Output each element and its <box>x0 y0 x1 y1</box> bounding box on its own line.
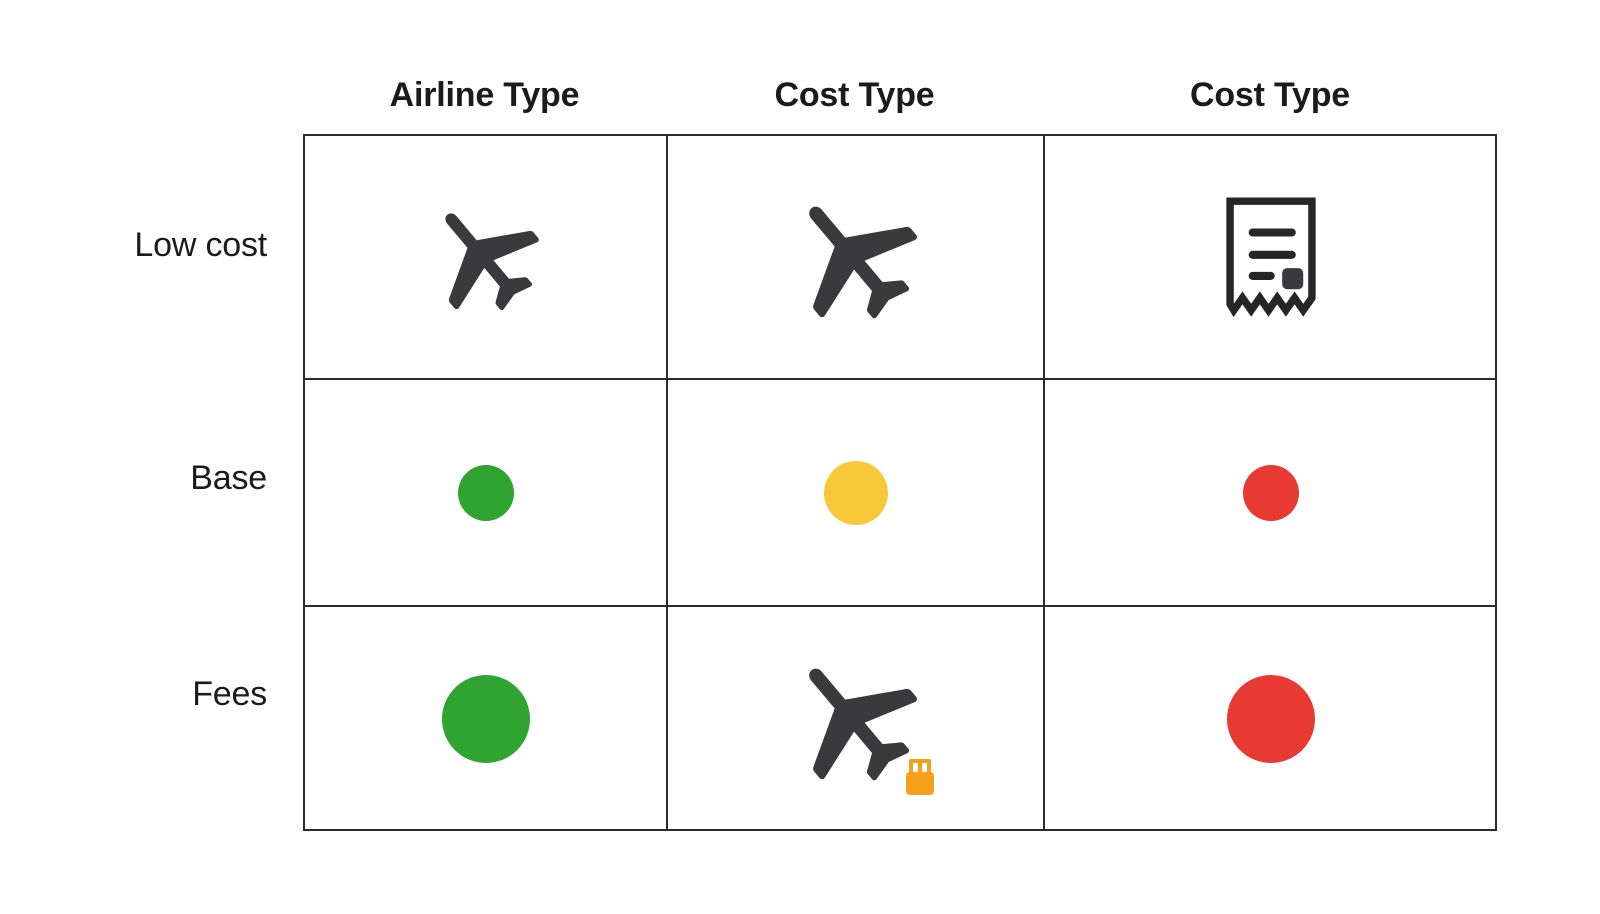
row-label-fees: Fees <box>40 675 267 714</box>
airplane-icon <box>421 192 551 322</box>
cell-base-cost-type-2 <box>1045 380 1497 607</box>
cell-low-cost-cost-type-1 <box>668 136 1045 380</box>
status-dot-red <box>1227 675 1315 763</box>
column-header-airline-type: Airline Type <box>303 72 666 118</box>
cell-fees-cost-type-2 <box>1045 607 1497 831</box>
column-header-cost-type-1: Cost Type <box>666 72 1043 118</box>
row-label-low-cost: Low cost <box>40 226 267 265</box>
receipt-icon <box>1221 195 1321 319</box>
status-dot-green <box>458 465 514 521</box>
cell-fees-cost-type-1 <box>668 607 1045 831</box>
airplane-with-baggage-icon <box>781 644 931 794</box>
status-dot-yellow <box>824 461 888 525</box>
status-dot-green <box>442 675 530 763</box>
comparison-matrix-grid <box>303 134 1497 831</box>
row-label-base: Base <box>40 459 267 498</box>
matrix-diagram-canvas: Airline Type Cost Type Cost Type Low cos… <box>0 0 1600 914</box>
cell-base-cost-type-1 <box>668 380 1045 607</box>
cell-base-airline-type <box>305 380 668 607</box>
status-dot-red <box>1243 465 1299 521</box>
cell-fees-airline-type <box>305 607 668 831</box>
cell-low-cost-cost-type-2 <box>1045 136 1497 380</box>
baggage-icon <box>903 756 937 798</box>
column-header-cost-type-2: Cost Type <box>1043 72 1497 118</box>
airplane-icon <box>781 182 931 332</box>
cell-low-cost-airline-type <box>305 136 668 380</box>
